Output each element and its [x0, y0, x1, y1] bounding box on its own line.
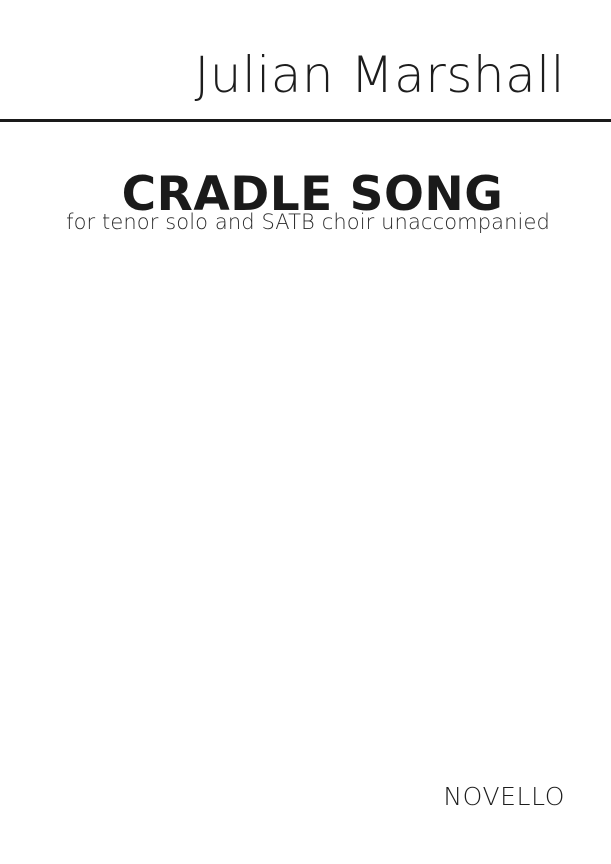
- score-cover-page: Julian Marshall CRADLE SONG for tenor so…: [0, 0, 611, 864]
- composer-name: Julian Marshall: [0, 44, 565, 106]
- instrumentation-subtitle: for tenor solo and SATB choir unaccompan…: [0, 208, 611, 236]
- header-divider-rule: [0, 119, 611, 122]
- publisher-imprint: NOVELLO: [0, 782, 565, 812]
